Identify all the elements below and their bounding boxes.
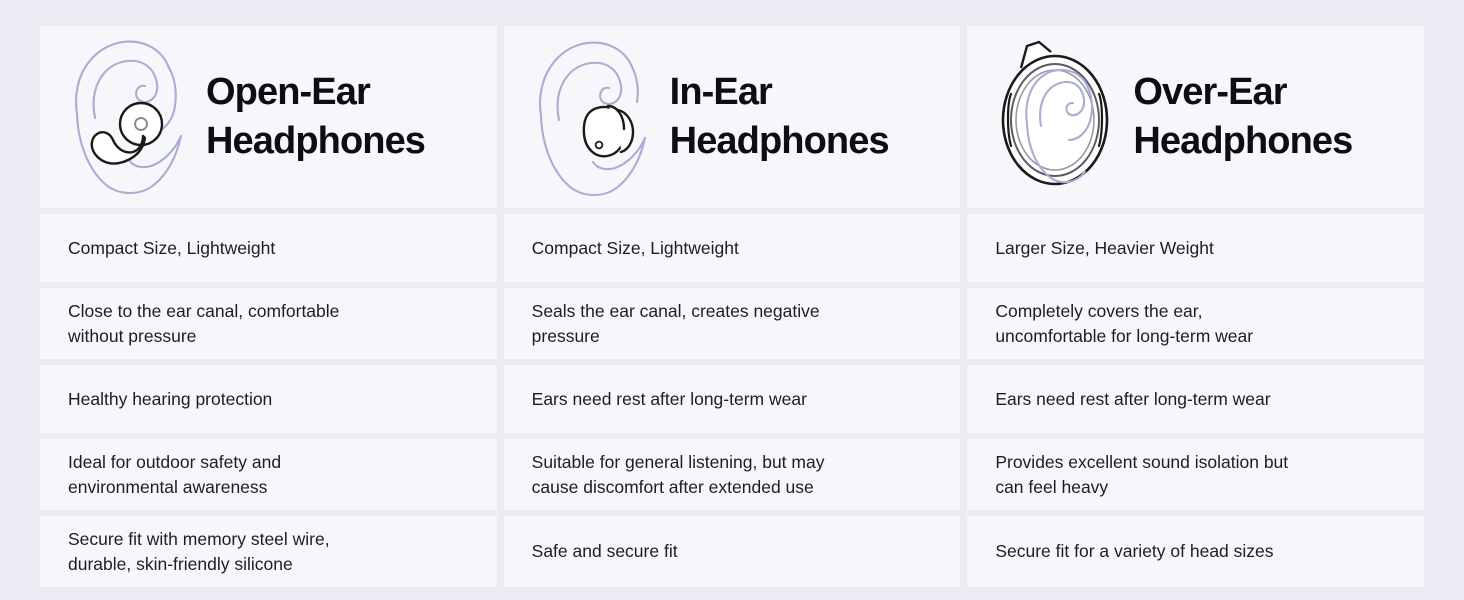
over-ear-headphone-icon: [981, 31, 1131, 203]
table-cell: Compact Size, Lightweight: [504, 214, 961, 282]
column-title: In-Ear Headphones: [670, 68, 889, 165]
column-title: Open-Ear Headphones: [206, 68, 425, 165]
cell-text: Larger Size, Heavier Weight: [995, 236, 1214, 261]
table-cell: Compact Size, Lightweight: [40, 214, 497, 282]
cell-text: Seals the ear canal, creates negative pr…: [532, 299, 820, 349]
table-cell: Secure fit for a variety of head sizes: [967, 516, 1424, 587]
column-header-open-ear: Open-Ear Headphones: [40, 26, 497, 208]
table-cell: Ideal for outdoor safety and environment…: [40, 439, 497, 510]
column-title: Over-Ear Headphones: [1133, 68, 1352, 165]
table-cell: Ears need rest after long-term wear: [504, 365, 961, 433]
column-header-over-ear: Over-Ear Headphones: [967, 26, 1424, 208]
headphone-comparison-table: Open-Ear Headphones In-Ear Headp: [40, 26, 1424, 572]
cell-text: Ideal for outdoor safety and environment…: [68, 450, 281, 500]
cell-text: Suitable for general listening, but may …: [532, 450, 825, 500]
table-cell: Seals the ear canal, creates negative pr…: [504, 288, 961, 359]
table-cell: Safe and secure fit: [504, 516, 961, 587]
cell-text: Close to the ear canal, comfortable with…: [68, 299, 339, 349]
cell-text: Secure fit for a variety of head sizes: [995, 539, 1273, 564]
column-header-in-ear: In-Ear Headphones: [504, 26, 961, 208]
cell-text: Ears need rest after long-term wear: [995, 387, 1270, 412]
table-cell: Completely covers the ear, uncomfortable…: [967, 288, 1424, 359]
table-cell: Provides excellent sound isolation but c…: [967, 439, 1424, 510]
cell-text: Compact Size, Lightweight: [68, 236, 275, 261]
table-cell: Healthy hearing protection: [40, 365, 497, 433]
cell-text: Provides excellent sound isolation but c…: [995, 450, 1288, 500]
cell-text: Completely covers the ear, uncomfortable…: [995, 299, 1253, 349]
table-cell: Ears need rest after long-term wear: [967, 365, 1424, 433]
table-cell: Close to the ear canal, comfortable with…: [40, 288, 497, 359]
cell-text: Ears need rest after long-term wear: [532, 387, 807, 412]
open-ear-headphone-icon: [54, 31, 204, 203]
cell-text: Safe and secure fit: [532, 539, 678, 564]
table-cell: Secure fit with memory steel wire, durab…: [40, 516, 497, 587]
table-cell: Larger Size, Heavier Weight: [967, 214, 1424, 282]
cell-text: Healthy hearing protection: [68, 387, 272, 412]
cell-text: Secure fit with memory steel wire, durab…: [68, 527, 330, 577]
table-cell: Suitable for general listening, but may …: [504, 439, 961, 510]
cell-text: Compact Size, Lightweight: [532, 236, 739, 261]
in-ear-headphone-icon: [518, 31, 668, 203]
